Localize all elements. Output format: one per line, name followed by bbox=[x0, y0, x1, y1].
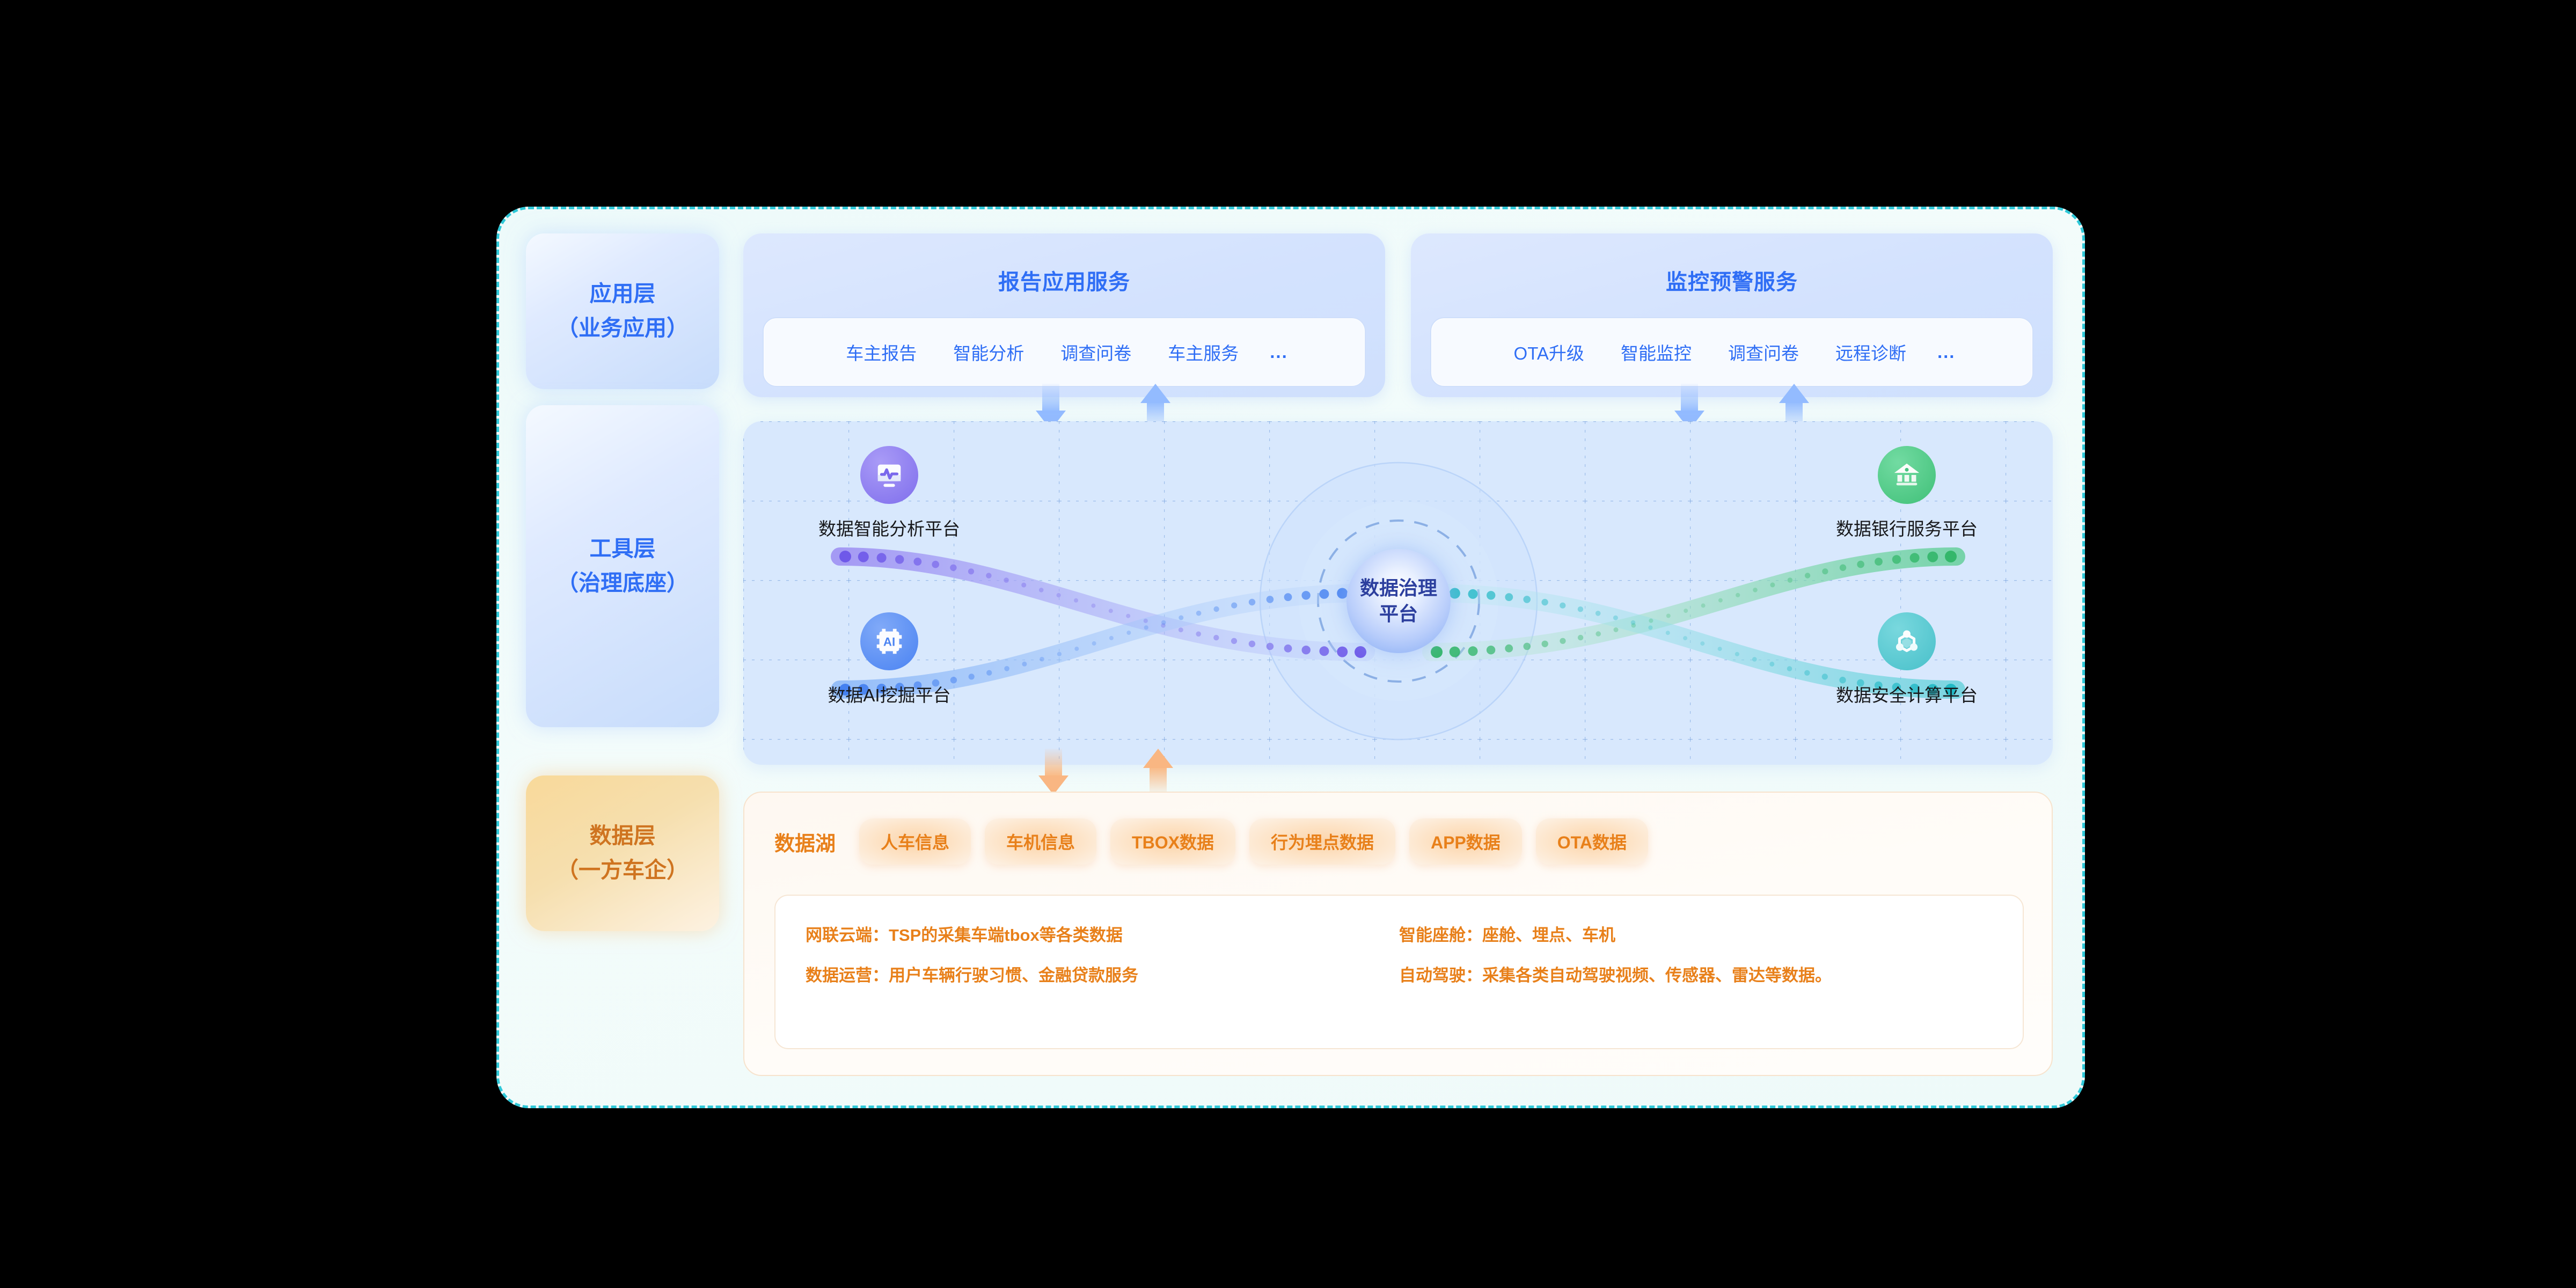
data-chip-behavior-tracking[interactable]: 行为埋点数据 bbox=[1249, 818, 1395, 865]
layer-data-line2: （一方车企） bbox=[557, 853, 689, 888]
service-item-survey-2[interactable]: 调查问卷 bbox=[1710, 339, 1817, 365]
data-desc-autonomous: 自动驾驶：采集各类自动驾驶视频、传感器、雷达等数据。 bbox=[1399, 962, 1993, 986]
data-lake-row: 数据湖 人车信息 车机信息 TBOX数据 行为埋点数据 APP数据 OTA数据 bbox=[774, 818, 1648, 865]
layer-application-line1: 应用层 bbox=[590, 277, 656, 311]
layer-label-tool: 工具层 （治理底座） bbox=[526, 405, 719, 727]
data-chip-vehicle-machine[interactable]: 车机信息 bbox=[985, 818, 1096, 865]
service-item-smart-analysis[interactable]: 智能分析 bbox=[935, 339, 1042, 365]
service-card-report[interactable]: 报告应用服务 车主报告 智能分析 调查问卷 车主服务 ... bbox=[743, 233, 1385, 397]
layer-application-line2: （业务应用） bbox=[557, 311, 689, 346]
diagram-canvas: 应用层 （业务应用） 工具层 （治理底座） 数据层 （一方车企） 报告应用服务 … bbox=[0, 0, 2576, 1288]
layer-tool-line2: （治理底座） bbox=[557, 566, 689, 601]
data-desc-cloud: 网联云端：TSP的采集车端tbox等各类数据 bbox=[806, 921, 1399, 946]
service-item-owner-service[interactable]: 车主服务 bbox=[1150, 339, 1257, 365]
service-item-ota-upgrade[interactable]: OTA升级 bbox=[1496, 339, 1602, 365]
layer-tool-line1: 工具层 bbox=[590, 532, 656, 566]
layer-label-application: 应用层 （业务应用） bbox=[526, 233, 719, 389]
hub-core: 数据治理 平台 bbox=[1346, 549, 1451, 653]
service-item-remote-diagnosis[interactable]: 远程诊断 bbox=[1817, 339, 1924, 365]
platform-label-bank: 数据银行服务平台 bbox=[1826, 515, 1987, 540]
central-hub[interactable]: 数据治理 平台 bbox=[1321, 523, 1476, 679]
service-title-report: 报告应用服务 bbox=[998, 265, 1130, 296]
hub-title-line1: 数据治理 bbox=[1360, 577, 1437, 599]
arrow-down-tool-to-data bbox=[1038, 749, 1069, 795]
data-chip-ota[interactable]: OTA数据 bbox=[1536, 818, 1648, 865]
data-description-column-left: 网联云端：TSP的采集车端tbox等各类数据 数据运营：用户车辆行驶习惯、金融贷… bbox=[806, 921, 1399, 1022]
platform-node-bank[interactable]: 数据银行服务平台 bbox=[1826, 446, 1987, 540]
service-card-monitoring[interactable]: 监控预警服务 OTA升级 智能监控 调查问卷 远程诊断 ... bbox=[1411, 233, 2053, 397]
platform-node-security[interactable]: 数据安全计算平台 bbox=[1826, 612, 1987, 707]
data-lake-title: 数据湖 bbox=[774, 827, 836, 857]
data-description-box: 网联云端：TSP的采集车端tbox等各类数据 数据运营：用户车辆行驶习惯、金融贷… bbox=[774, 895, 2024, 1049]
layer-data-line1: 数据层 bbox=[590, 819, 656, 853]
platform-node-ai[interactable]: AI 数据AI挖掘平台 bbox=[809, 612, 970, 707]
layer-rail: 应用层 （业务应用） 工具层 （治理底座） 数据层 （一方车企） bbox=[526, 233, 719, 1087]
monitor-waveform-icon bbox=[860, 446, 918, 504]
shield-nodes-icon bbox=[1878, 612, 1936, 670]
arrow-up-data-to-tool bbox=[1143, 749, 1173, 795]
service-title-monitoring: 监控预警服务 bbox=[1666, 265, 1798, 296]
service-item-smart-monitoring[interactable]: 智能监控 bbox=[1602, 339, 1710, 365]
layer-label-data: 数据层 （一方车企） bbox=[526, 775, 719, 931]
service-item-more-monitoring[interactable]: ... bbox=[1924, 342, 1968, 362]
data-chip-app[interactable]: APP数据 bbox=[1409, 818, 1522, 865]
data-chip-tbox[interactable]: TBOX数据 bbox=[1110, 818, 1235, 865]
bank-building-icon bbox=[1878, 446, 1936, 504]
service-item-more-report[interactable]: ... bbox=[1257, 342, 1301, 362]
data-desc-cockpit: 智能座舱：座舱、埋点、车机 bbox=[1399, 921, 1993, 946]
platform-label-analysis: 数据智能分析平台 bbox=[809, 515, 970, 540]
service-item-list-report: 车主报告 智能分析 调查问卷 车主服务 ... bbox=[763, 317, 1366, 387]
data-chip-person-vehicle[interactable]: 人车信息 bbox=[859, 818, 971, 865]
tool-layer-panel: 数据智能分析平台 AI bbox=[743, 421, 2053, 765]
platform-node-analysis[interactable]: 数据智能分析平台 bbox=[809, 446, 970, 540]
platform-label-ai: 数据AI挖掘平台 bbox=[809, 681, 970, 707]
ai-chip-icon: AI bbox=[860, 612, 918, 670]
architecture-frame: 应用层 （业务应用） 工具层 （治理底座） 数据层 （一方车企） 报告应用服务 … bbox=[496, 207, 2085, 1108]
service-item-owner-report[interactable]: 车主报告 bbox=[828, 339, 935, 365]
data-desc-operations: 数据运营：用户车辆行驶习惯、金融贷款服务 bbox=[806, 962, 1399, 986]
application-services-row: 报告应用服务 车主报告 智能分析 调查问卷 车主服务 ... 监控预警服务 OT… bbox=[743, 233, 2053, 397]
svg-text:AI: AI bbox=[883, 635, 895, 649]
service-item-list-monitoring: OTA升级 智能监控 调查问卷 远程诊断 ... bbox=[1430, 317, 2033, 387]
data-layer-card: 数据湖 人车信息 车机信息 TBOX数据 行为埋点数据 APP数据 OTA数据 … bbox=[743, 792, 2053, 1076]
platform-label-security: 数据安全计算平台 bbox=[1826, 681, 1987, 707]
service-item-survey[interactable]: 调查问卷 bbox=[1042, 339, 1150, 365]
data-description-column-right: 智能座舱：座舱、埋点、车机 自动驾驶：采集各类自动驾驶视频、传感器、雷达等数据。 bbox=[1399, 921, 1993, 1022]
hub-title-line2: 平台 bbox=[1379, 603, 1418, 625]
